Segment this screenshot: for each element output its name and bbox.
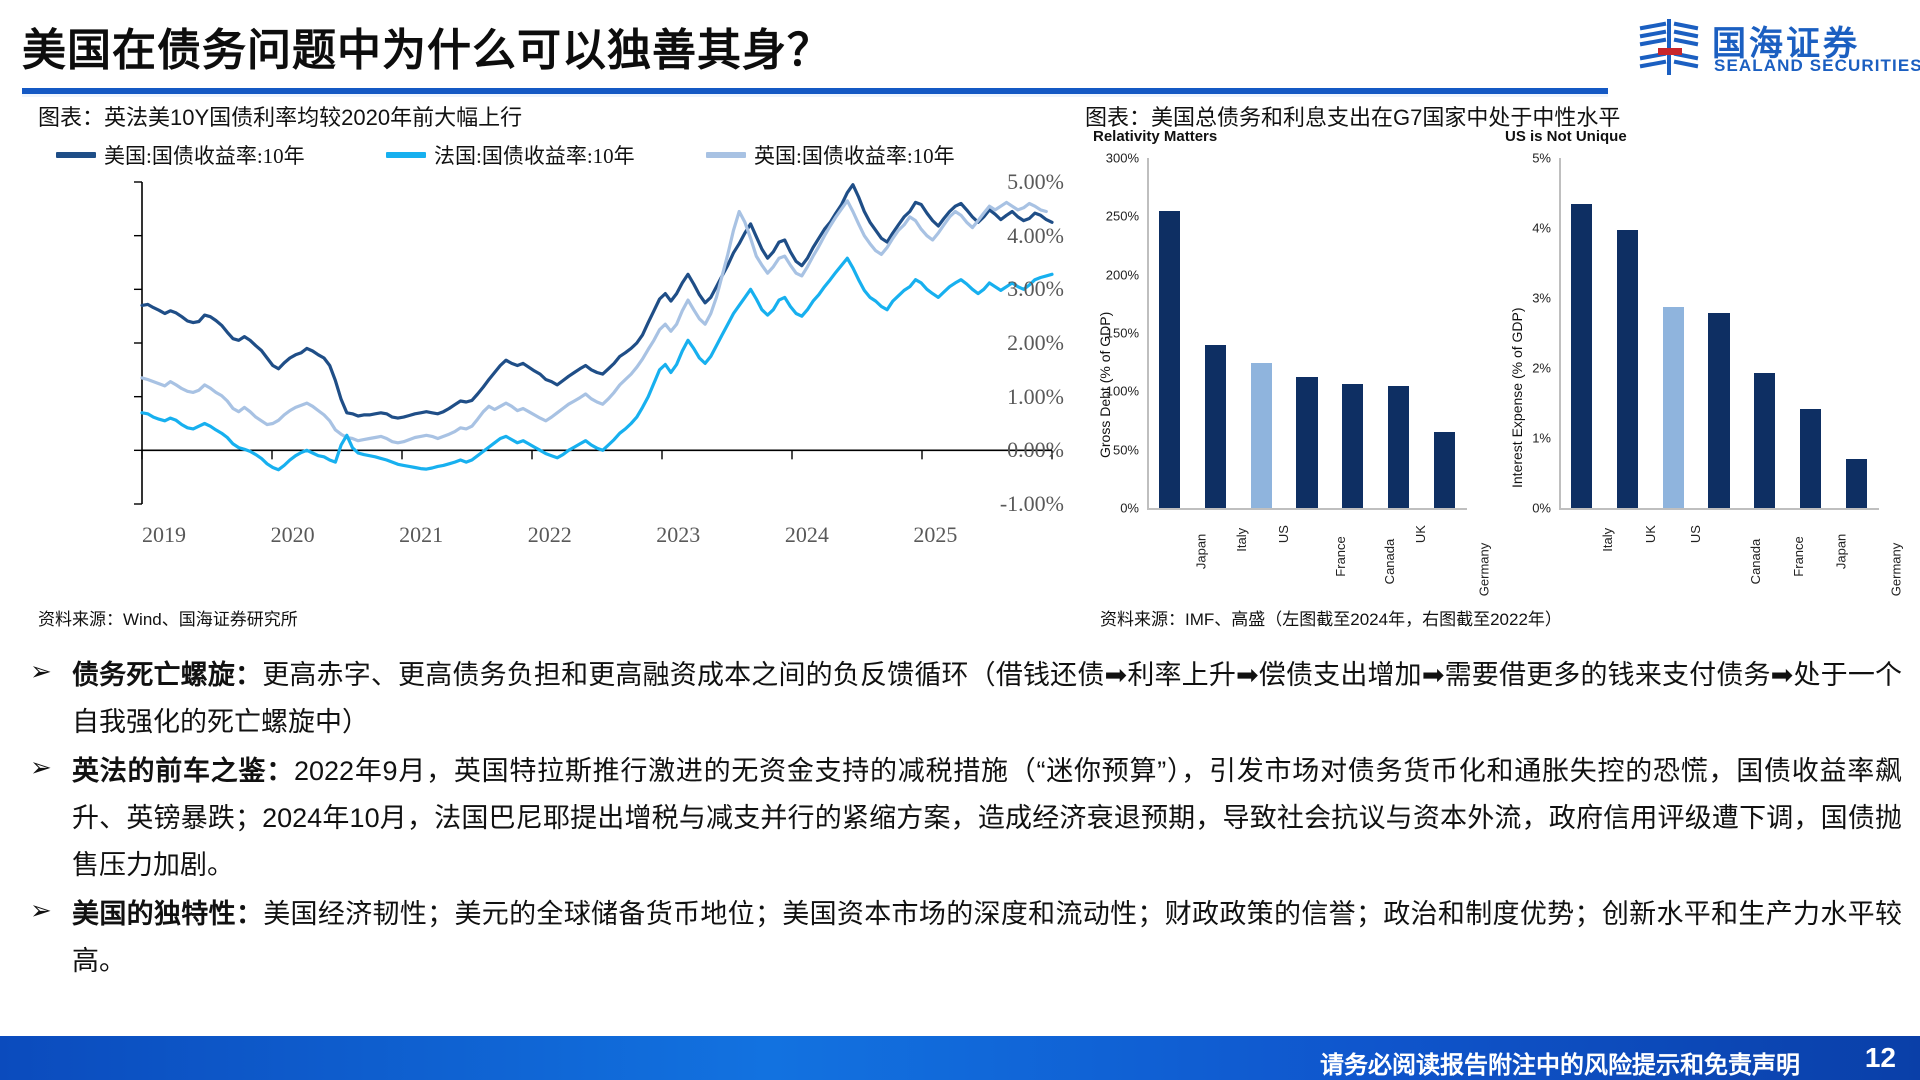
bar-france	[1296, 377, 1317, 508]
bar-category-label: Italy	[1233, 528, 1248, 552]
bar-y-tick-label: 0%	[1091, 501, 1139, 516]
line-x-tick-label: 2024	[785, 522, 829, 548]
line-y-tick-label: 5.00%	[960, 169, 1064, 195]
bullet-body-text: 美国经济韧性；美元的全球储备货币地位；美国资本市场的深度和流动性；财政政策的信誉…	[72, 899, 1902, 976]
bar-y-tick-label: 1%	[1503, 431, 1551, 446]
line-x-tick-label: 2022	[528, 522, 572, 548]
bar-y-tick-label: 300%	[1091, 151, 1139, 166]
bar-uk	[1388, 386, 1409, 509]
bar-y-tick-label: 50%	[1091, 442, 1139, 457]
g7-bar-charts: Relativity Matters Gross Debt (% of GDP)…	[1085, 128, 1905, 598]
gross-debt-bar-chart: Relativity Matters Gross Debt (% of GDP)…	[1085, 128, 1485, 598]
bullet-text: 英法的前车之鉴：2022年9月，英国特拉斯推行激进的无资金支持的减税措施（“迷你…	[72, 748, 1902, 889]
bar-category-label: Canada	[1748, 539, 1763, 585]
line-plot-area: 5.00%4.00%3.00%2.00%1.00%0.00%-1.00% 201…	[24, 174, 1064, 554]
bar-italy	[1205, 345, 1226, 508]
bar-x-axis-line	[1559, 508, 1879, 510]
bullet-item: ➢美国的独特性：美国经济韧性；美元的全球储备货币地位；美国资本市场的深度和流动性…	[22, 891, 1902, 985]
bar-germany	[1434, 432, 1455, 508]
bullet-item: ➢英法的前车之鉴：2022年9月，英国特拉斯推行激进的无资金支持的减税措施（“迷…	[22, 748, 1902, 889]
bar-y-tick-label: 5%	[1503, 151, 1551, 166]
interest-expense-plot-area: 5%4%3%2%1%0%ItalyUKUSCanadaFranceJapanGe…	[1497, 128, 1897, 598]
footer-disclaimer: 请务必阅读报告附注中的风险提示和免责声明	[1320, 1045, 1800, 1080]
bar-y-axis-line	[1559, 158, 1561, 508]
bullet-marker-icon: ➢	[30, 658, 52, 684]
bar-y-tick-label: 250%	[1091, 209, 1139, 224]
line-y-tick-label: -1.00%	[960, 491, 1064, 517]
bar-canada	[1342, 384, 1363, 508]
bullet-text: 美国的独特性：美国经济韧性；美元的全球储备货币地位；美国资本市场的深度和流动性；…	[72, 891, 1902, 985]
bar-category-label: Japan	[1834, 534, 1849, 569]
bar-uk	[1617, 230, 1638, 508]
bar-y-tick-label: 200%	[1091, 267, 1139, 282]
bar-japan	[1800, 409, 1821, 508]
bullet-lead-label: 英法的前车之鉴：	[72, 756, 294, 786]
logo-company-name-en: SEALAND SECURITIES	[1714, 56, 1920, 76]
line-x-tick-label: 2019	[142, 522, 186, 548]
interest-expense-bar-chart: US is Not Unique Interest Expense (% of …	[1497, 128, 1897, 598]
legend-item-us: 美国:国债收益率:10年	[56, 140, 305, 170]
bar-x-axis-line	[1147, 508, 1467, 510]
legend-label-france: 法国:国债收益率:10年	[434, 140, 635, 170]
bar-category-label: Germany	[1889, 543, 1904, 596]
legend-label-uk: 英国:国债收益率:10年	[754, 140, 955, 170]
bar-y-tick-label: 0%	[1503, 501, 1551, 516]
sealand-wave-mark-icon	[1638, 18, 1702, 76]
bullet-lead-label: 美国的独特性：	[72, 899, 263, 929]
bar-category-label: France	[1791, 536, 1806, 576]
line-x-tick-label: 2025	[913, 522, 957, 548]
bar-y-tick-label: 3%	[1503, 291, 1551, 306]
line-x-tick-label: 2021	[399, 522, 443, 548]
page-title: 美国在债务问题中为什么可以独善其身？	[22, 14, 832, 78]
bar-category-label: France	[1333, 536, 1348, 576]
bar-category-label: UK	[1643, 525, 1658, 543]
line-series-uk	[142, 201, 1046, 443]
line-y-tick-label: 3.00%	[960, 276, 1064, 302]
page-number: 12	[1865, 1042, 1896, 1074]
bar-y-tick-label: 100%	[1091, 384, 1139, 399]
bullet-text: 债务死亡螺旋：更高赤字、更高债务负担和更高融资成本之间的负反馈循环（借钱还债➡利…	[72, 652, 1902, 746]
line-chart-legend: 美国:国债收益率:10年 法国:国债收益率:10年 英国:国债收益率:10年	[34, 140, 1064, 174]
bar-category-label: Germany	[1477, 543, 1492, 596]
line-x-tick-label: 2023	[656, 522, 700, 548]
bar-germany	[1846, 459, 1867, 508]
bar-category-label: Italy	[1600, 528, 1615, 552]
bar-italy	[1571, 204, 1592, 509]
bullet-lead-label: 债务死亡螺旋：	[72, 660, 262, 690]
bar-y-axis-line	[1147, 158, 1149, 508]
line-y-tick-label: 1.00%	[960, 384, 1064, 410]
bullet-list: ➢债务死亡螺旋：更高赤字、更高债务负担和更高融资成本之间的负反馈循环（借钱还债➡…	[22, 652, 1902, 1022]
line-series-svg	[24, 174, 1064, 554]
bullet-marker-icon: ➢	[30, 754, 52, 780]
left-figure-caption: 图表：英法美10Y国债利率均较2020年前大幅上行	[38, 100, 522, 132]
company-logo: 国海证券 SEALAND SECURITIES	[1638, 14, 1906, 84]
bar-y-tick-label: 4%	[1503, 221, 1551, 236]
slide-header: 美国在债务问题中为什么可以独善其身？ 国海证券 SEALAND SECURITI…	[0, 0, 1920, 96]
line-y-tick-label: 0.00%	[960, 437, 1064, 463]
line-x-tick-label: 2020	[271, 522, 315, 548]
legend-item-france: 法国:国债收益率:10年	[386, 140, 635, 170]
bar-category-label: Canada	[1381, 539, 1396, 585]
line-series-france	[142, 258, 1052, 470]
bullet-body-text: 2022年9月，英国特拉斯推行激进的无资金支持的减税措施（“迷你预算”），引发市…	[72, 756, 1902, 880]
legend-item-uk: 英国:国债收益率:10年	[706, 140, 955, 170]
bar-us	[1663, 307, 1684, 508]
slide-footer: 请务必阅读报告附注中的风险提示和免责声明 12	[0, 1036, 1920, 1080]
bar-us	[1251, 363, 1272, 508]
line-y-tick-label: 2.00%	[960, 330, 1064, 356]
bullet-item: ➢债务死亡螺旋：更高赤字、更高债务负担和更高融资成本之间的负反馈循环（借钱还债➡…	[22, 652, 1902, 746]
left-figure-source: 资料来源：Wind、国海证券研究所	[38, 605, 298, 630]
right-figure-source: 资料来源：IMF、高盛（左图截至2024年，右图截至2022年）	[1100, 605, 1562, 630]
legend-swatch-uk	[706, 152, 746, 158]
bar-canada	[1708, 313, 1729, 508]
bar-france	[1754, 373, 1775, 508]
bullet-body-text: 更高赤字、更高债务负担和更高融资成本之间的负反馈循环（借钱还债➡利率上升➡偿债支…	[72, 660, 1902, 737]
bar-japan	[1159, 211, 1180, 509]
bar-y-tick-label: 2%	[1503, 361, 1551, 376]
line-y-tick-label: 4.00%	[960, 223, 1064, 249]
bar-category-label: Japan	[1194, 534, 1209, 569]
bullet-marker-icon: ➢	[30, 897, 52, 923]
bar-category-label: UK	[1413, 525, 1428, 543]
title-divider-soft	[22, 94, 1608, 97]
bond-yield-line-chart: 美国:国债收益率:10年 法国:国债收益率:10年 英国:国债收益率:10年 5…	[24, 140, 1064, 595]
bar-y-tick-label: 150%	[1091, 326, 1139, 341]
legend-swatch-us	[56, 152, 96, 158]
legend-swatch-france	[386, 152, 426, 158]
bar-category-label: US	[1276, 525, 1291, 543]
gross-debt-plot-area: 300%250%200%150%100%50%0%JapanItalyUSFra…	[1085, 128, 1485, 598]
bar-category-label: US	[1688, 525, 1703, 543]
legend-label-us: 美国:国债收益率:10年	[104, 140, 305, 170]
